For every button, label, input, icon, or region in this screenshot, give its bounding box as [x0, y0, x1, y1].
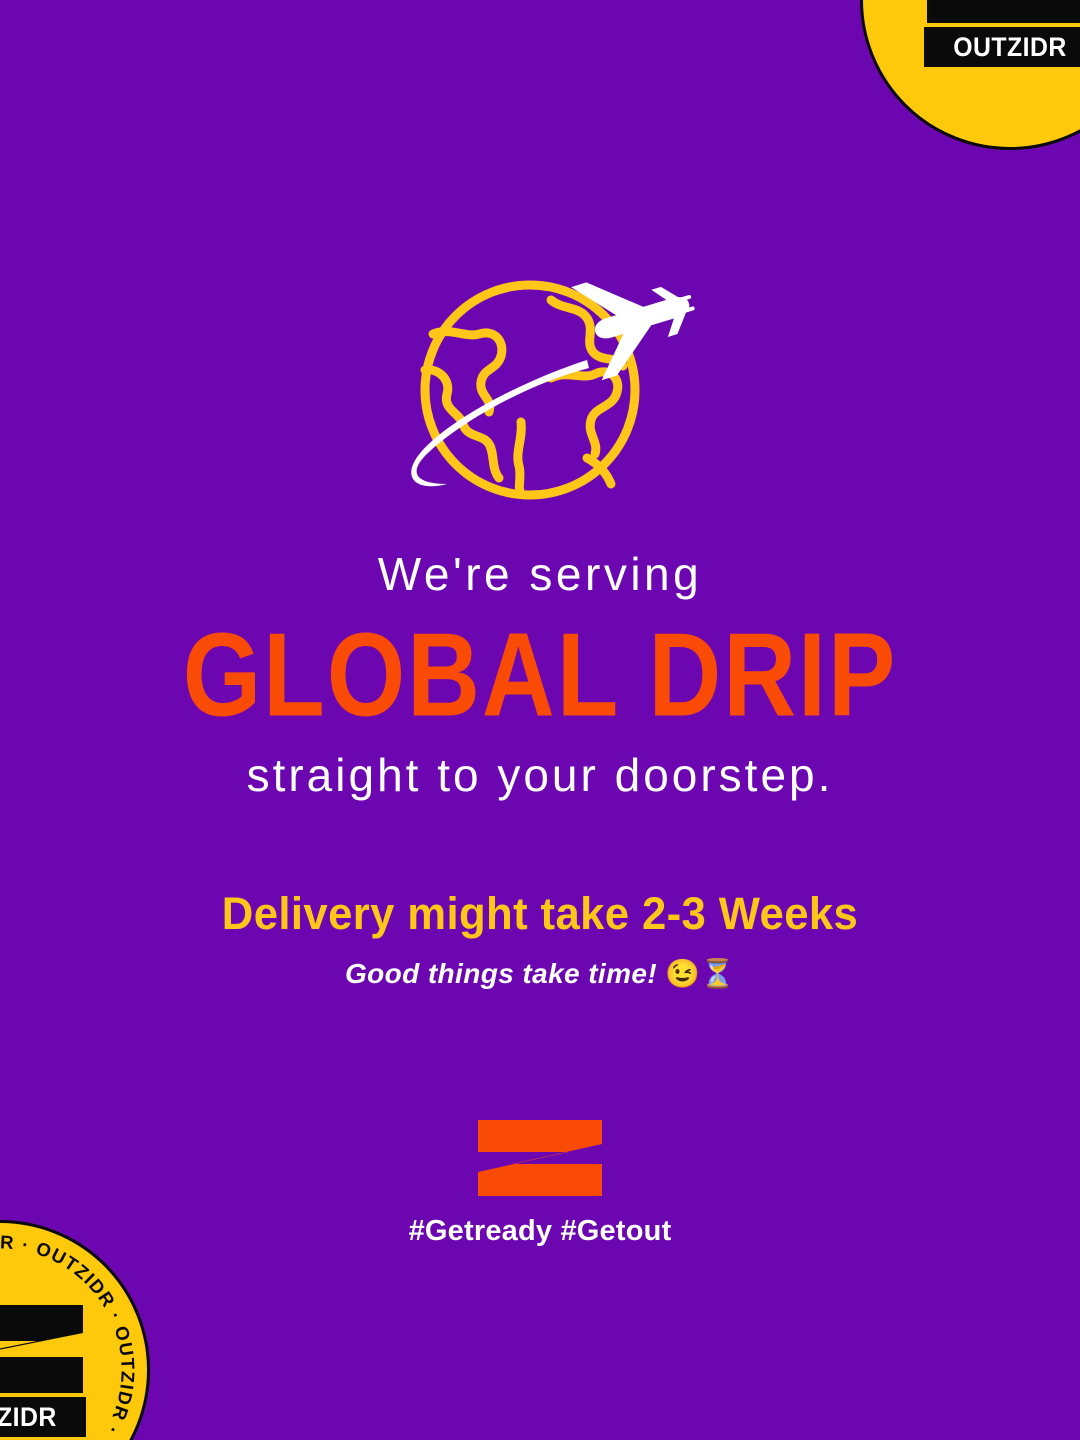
headline-text: GLOBAL DRIP [16, 615, 1064, 736]
footer-tagline: #Getready #Getout [0, 1215, 1080, 1248]
badge-z-logo-bl [0, 1303, 85, 1395]
badge-wordmark-bl: OUTZIDR [0, 1397, 79, 1437]
reassurance-text: Good things take time! 😉⏳ [0, 957, 1080, 991]
reassurance-label: Good things take time! [345, 958, 665, 989]
subhead-text: straight to your doorstep. [0, 749, 1080, 802]
badge-wordmark-tr: OUTZIDR [931, 27, 1080, 67]
outzidr-badge-top-right: OUTZIDR · OUTZIDR · OUTZIDR · OUTZIDR · … [860, 0, 1080, 150]
delivery-note-text: Delivery might take 2-3 Weeks [16, 888, 1064, 940]
badge-core-bottom-left: OUTZIDR [0, 1303, 95, 1437]
outzidr-z-logo [476, 1118, 604, 1198]
globe-airplane-icon [355, 272, 725, 512]
outzidr-badge-bottom-left: OUTZIDR · OUTZIDR · OUTZIDR · OUTZIDR · … [0, 1220, 150, 1440]
badge-z-logo-tr [925, 0, 1080, 25]
badge-wordmark-bar-tr: OUTZIDR [924, 27, 1080, 67]
badge-core-top-right: OUTZIDR [915, 0, 1080, 67]
eyebrow-text: We're serving [0, 548, 1080, 601]
wink-hourglass-emoji: 😉⏳ [665, 958, 735, 989]
main-copy-block: We're serving GLOBAL DRIP straight to yo… [0, 548, 1080, 990]
badge-wordmark-bar-bl: OUTZIDR [0, 1397, 86, 1437]
footer-block: #Getready #Getout [0, 1118, 1080, 1248]
promo-poster: We're serving GLOBAL DRIP straight to yo… [0, 0, 1080, 1440]
